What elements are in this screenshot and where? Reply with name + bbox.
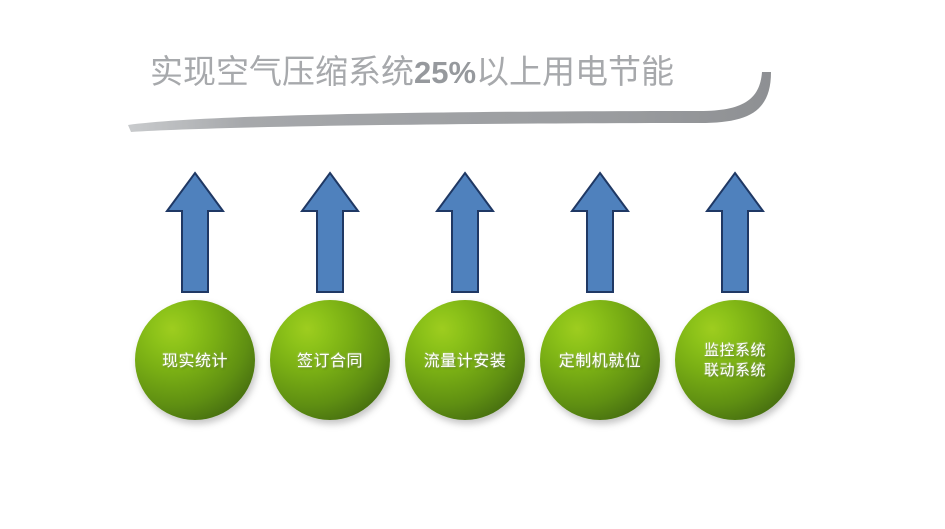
step-label-line: 联动系统 xyxy=(704,360,766,380)
process-step-2[interactable]: 签订合同 xyxy=(265,0,395,529)
up-arrow-icon xyxy=(704,170,766,296)
process-step-3[interactable]: 流量计安装 xyxy=(400,0,530,529)
up-arrow-icon xyxy=(434,170,496,296)
step-circle-1[interactable]: 现实统计 xyxy=(135,300,255,420)
step-circle-4[interactable]: 定制机就位 xyxy=(540,300,660,420)
step-circle-5[interactable]: 监控系统联动系统 xyxy=(675,300,795,420)
up-arrow-icon xyxy=(299,170,361,296)
step-label-1: 现实统计 xyxy=(162,350,228,371)
process-step-5[interactable]: 监控系统联动系统 xyxy=(670,0,800,529)
step-circle-3[interactable]: 流量计安装 xyxy=(405,300,525,420)
slide-canvas: 实现空气压缩系统25%以上用电节能 现实统计 签订合同 xyxy=(0,0,945,529)
step-label-3: 流量计安装 xyxy=(424,350,507,371)
step-label-4: 定制机就位 xyxy=(559,350,642,371)
up-arrow-icon xyxy=(164,170,226,296)
process-step-1[interactable]: 现实统计 xyxy=(130,0,260,529)
step-circle-2[interactable]: 签订合同 xyxy=(270,300,390,420)
step-label-line: 监控系统 xyxy=(704,340,766,360)
up-arrow-icon xyxy=(569,170,631,296)
step-label-5: 监控系统联动系统 xyxy=(704,340,766,380)
step-label-line: 现实统计 xyxy=(162,350,228,371)
step-label-2: 签订合同 xyxy=(297,350,363,371)
step-label-line: 签订合同 xyxy=(297,350,363,371)
step-label-line: 定制机就位 xyxy=(559,350,642,371)
process-flow: 现实统计 签订合同 流量计安装 xyxy=(0,0,945,529)
step-label-line: 流量计安装 xyxy=(424,350,507,371)
process-step-4[interactable]: 定制机就位 xyxy=(535,0,665,529)
